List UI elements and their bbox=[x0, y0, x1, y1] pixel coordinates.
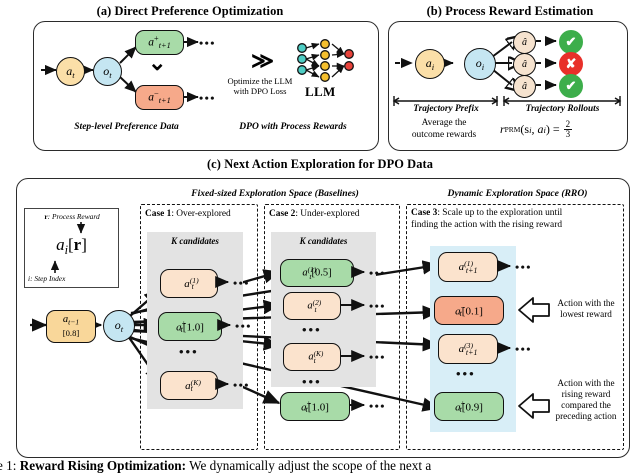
case3-ellipsis-2: ••• bbox=[515, 343, 532, 355]
case3-ellipsis-1: ••• bbox=[515, 261, 532, 273]
case3-rising-line1: Action with the bbox=[550, 378, 622, 389]
case3-rising-line3: compared the bbox=[550, 400, 622, 411]
case3-rising-annotation: Action with the rising reward compared t… bbox=[550, 378, 622, 422]
caption-bold: Reward Rising Optimization: bbox=[20, 458, 186, 473]
figure-caption: ure 1: Reward Rising Optimization: We dy… bbox=[0, 458, 431, 474]
case3-lowest-line1: Action with the bbox=[552, 298, 620, 309]
case3-lowest-annotation: Action with the lowest reward bbox=[552, 298, 620, 320]
caption-rest: We dynamically adjust the scope of the n… bbox=[189, 458, 431, 473]
case3-lowest-line2: lowest reward bbox=[552, 309, 620, 320]
caption-prefix: ure 1: bbox=[0, 458, 16, 473]
case3-rising-line2: rising reward bbox=[550, 389, 622, 400]
figure-root: (a) Direct Preference Optimization at bbox=[0, 0, 640, 474]
case3-out-edges bbox=[0, 0, 640, 474]
case3-rising-line4: preceding action bbox=[550, 411, 622, 422]
